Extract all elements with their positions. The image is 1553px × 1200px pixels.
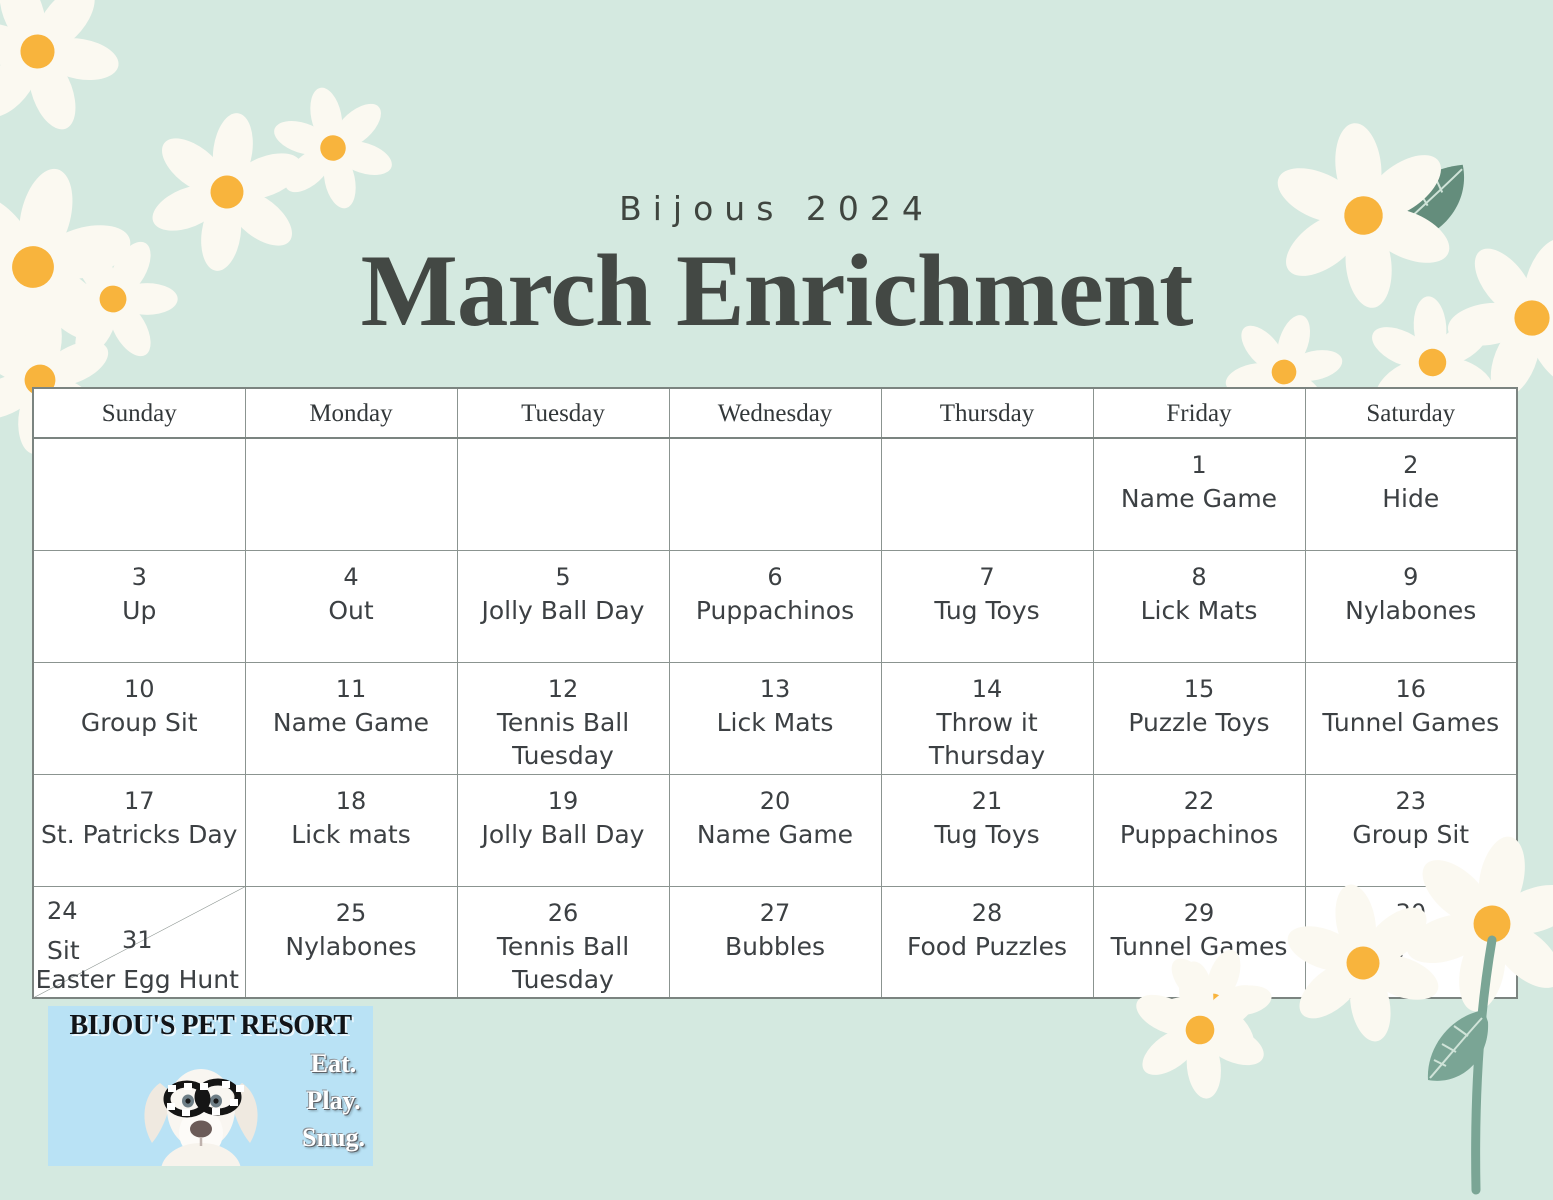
day-activity: Easter Egg Hunt (34, 963, 241, 996)
day-number: 23 (1306, 786, 1517, 816)
day-number: 22 (1094, 786, 1305, 816)
calendar-day-cell (669, 438, 881, 550)
day-activity: Name Game (246, 706, 457, 739)
logo-tagline-line1: Eat. (302, 1046, 365, 1083)
day-number: 15 (1094, 674, 1305, 704)
day-number: 25 (246, 898, 457, 928)
page-title: March Enrichment (0, 237, 1553, 345)
calendar-day-cell: 17 St. Patricks Day (33, 774, 245, 886)
day-number: 2 (1306, 450, 1517, 480)
calendar-day-cell: 12 Tennis Ball Tuesday (457, 662, 669, 774)
day-number: 28 (882, 898, 1093, 928)
day-activity: Lick Mats (670, 706, 881, 739)
calendar-day-cell-split-24-31: 24 Sit 31 Easter Egg Hunt (33, 886, 245, 998)
calendar-day-cell: 28 Food Puzzles (881, 886, 1093, 998)
day-activity: Lick mats (246, 818, 457, 851)
day-number: 6 (670, 562, 881, 592)
day-number: 29 (1094, 898, 1305, 928)
calendar-day-cell: 18 Lick mats (245, 774, 457, 886)
calendar-week-row: 1 Name Game 2 Hide (33, 438, 1517, 550)
calendar-year-label: Bijous 2024 (0, 192, 1553, 225)
day-activity: Nylabones (1306, 594, 1517, 627)
calendar-day-cell: 4 Out (245, 550, 457, 662)
calendar-day-cell: 16 Tunnel Games (1305, 662, 1517, 774)
calendar-day-cell (245, 438, 457, 550)
calendar-day-cell: 5 Jolly Ball Day (457, 550, 669, 662)
day-number: 14 (882, 674, 1093, 704)
day-activity: Tennis Ball Tuesday (458, 930, 669, 996)
day-activity: St. Patricks Day (34, 818, 245, 851)
day-number: 18 (246, 786, 457, 816)
weekday-header-saturday: Saturday (1305, 388, 1517, 438)
calendar-day-cell (881, 438, 1093, 550)
calendar-day-cell: 9 Nylabones (1305, 550, 1517, 662)
calendar-day-cell: 13 Lick Mats (669, 662, 881, 774)
day-activity: Puppachinos (670, 594, 881, 627)
day-number: 5 (458, 562, 669, 592)
day-activity: Puzzle Toys (1094, 706, 1305, 739)
calendar-day-cell: 14 Throw it Thursday (881, 662, 1093, 774)
day-activity: Jolly Ball Day (458, 818, 669, 851)
weekday-header-sunday: Sunday (33, 388, 245, 438)
calendar-day-cell: 27 Bubbles (669, 886, 881, 998)
day-number: 7 (882, 562, 1093, 592)
day-activity: Hide (1306, 482, 1517, 515)
calendar-day-cell: 11 Name Game (245, 662, 457, 774)
calendar-day-cell: 30 Spring Photos (1305, 886, 1517, 998)
day-number: 11 (246, 674, 457, 704)
day-activity: Group Sit (34, 706, 245, 739)
calendar-day-cell: 10 Group Sit (33, 662, 245, 774)
calendar-week-row: 10 Group Sit 11 Name Game 12 Tennis Ball… (33, 662, 1517, 774)
day-activity: Tunnel Games (1306, 706, 1517, 739)
calendar-day-cell: 20 Name Game (669, 774, 881, 886)
calendar-week-row: 24 Sit 31 Easter Egg Hunt 25 Nylabones 2… (33, 886, 1517, 998)
day-activity: Food Puzzles (882, 930, 1093, 963)
weekday-header-tuesday: Tuesday (457, 388, 669, 438)
day-number: 27 (670, 898, 881, 928)
day-31-block: 31 Easter Egg Hunt (34, 925, 241, 996)
day-number: 1 (1094, 450, 1305, 480)
enrichment-calendar-table: Sunday Monday Tuesday Wednesday Thursday… (32, 387, 1518, 999)
day-number: 17 (34, 786, 245, 816)
day-activity: Puppachinos (1094, 818, 1305, 851)
calendar-day-cell: 6 Puppachinos (669, 550, 881, 662)
calendar-day-cell: 2 Hide (1305, 438, 1517, 550)
calendar-day-cell: 25 Nylabones (245, 886, 457, 998)
day-number: 4 (246, 562, 457, 592)
calendar-day-cell: 29 Tunnel Games (1093, 886, 1305, 998)
calendar-day-cell: 23 Group Sit (1305, 774, 1517, 886)
day-activity: Jolly Ball Day (458, 594, 669, 627)
day-number: 24 (47, 896, 80, 926)
day-number: 26 (458, 898, 669, 928)
calendar-day-cell: 21 Tug Toys (881, 774, 1093, 886)
weekday-header-monday: Monday (245, 388, 457, 438)
calendar-day-cell: 8 Lick Mats (1093, 550, 1305, 662)
day-activity: Tug Toys (882, 818, 1093, 851)
weekday-header-friday: Friday (1093, 388, 1305, 438)
day-number: 3 (34, 562, 245, 592)
calendar-day-cell: 7 Tug Toys (881, 550, 1093, 662)
day-number: 31 (34, 925, 241, 955)
logo-business-name: BIJOU'S PET RESORT (48, 1010, 373, 1042)
day-number: 12 (458, 674, 669, 704)
calendar-week-row: 3 Up 4 Out 5 Jolly Ball Day 6 Puppachino… (33, 550, 1517, 662)
calendar-day-cell (457, 438, 669, 550)
day-number: 19 (458, 786, 669, 816)
weekday-header-row: Sunday Monday Tuesday Wednesday Thursday… (33, 388, 1517, 438)
weekday-header-thursday: Thursday (881, 388, 1093, 438)
calendar-day-cell (33, 438, 245, 550)
logo-tagline-line3: Snug. (302, 1120, 365, 1157)
day-number: 13 (670, 674, 881, 704)
day-activity: Group Sit (1306, 818, 1517, 851)
day-activity: Bubbles (670, 930, 881, 963)
calendar-day-cell: 26 Tennis Ball Tuesday (457, 886, 669, 998)
day-activity: Tennis Ball Tuesday (458, 706, 669, 772)
day-activity: Lick Mats (1094, 594, 1305, 627)
calendar-day-cell: 1 Name Game (1093, 438, 1305, 550)
calendar-day-cell: 15 Puzzle Toys (1093, 662, 1305, 774)
day-number: 8 (1094, 562, 1305, 592)
logo-tagline: Eat. Play. Snug. (302, 1046, 365, 1157)
calendar-day-cell: 3 Up (33, 550, 245, 662)
day-activity: Spring Photos (1306, 930, 1517, 963)
day-number: 30 (1306, 898, 1517, 928)
weekday-header-wednesday: Wednesday (669, 388, 881, 438)
day-activity: Throw it Thursday (882, 706, 1093, 772)
calendar-day-cell: 19 Jolly Ball Day (457, 774, 669, 886)
day-activity: Name Game (670, 818, 881, 851)
day-number: 10 (34, 674, 245, 704)
day-number: 16 (1306, 674, 1517, 704)
day-number: 21 (882, 786, 1093, 816)
day-number: 20 (670, 786, 881, 816)
day-activity: Tug Toys (882, 594, 1093, 627)
dog-photo (126, 1047, 276, 1166)
calendar-header: Bijous 2024 March Enrichment (0, 0, 1553, 345)
day-activity: Nylabones (246, 930, 457, 963)
logo-tagline-line2: Play. (302, 1083, 365, 1120)
calendar-week-row: 17 St. Patricks Day 18 Lick mats 19 Joll… (33, 774, 1517, 886)
calendar-day-cell: 22 Puppachinos (1093, 774, 1305, 886)
day-number: 9 (1306, 562, 1517, 592)
day-activity: Out (246, 594, 457, 627)
day-activity: Tunnel Games (1094, 930, 1305, 963)
business-logo: BIJOU'S PET RESORT (48, 1006, 373, 1166)
day-activity: Up (34, 594, 245, 627)
day-activity: Name Game (1094, 482, 1305, 515)
